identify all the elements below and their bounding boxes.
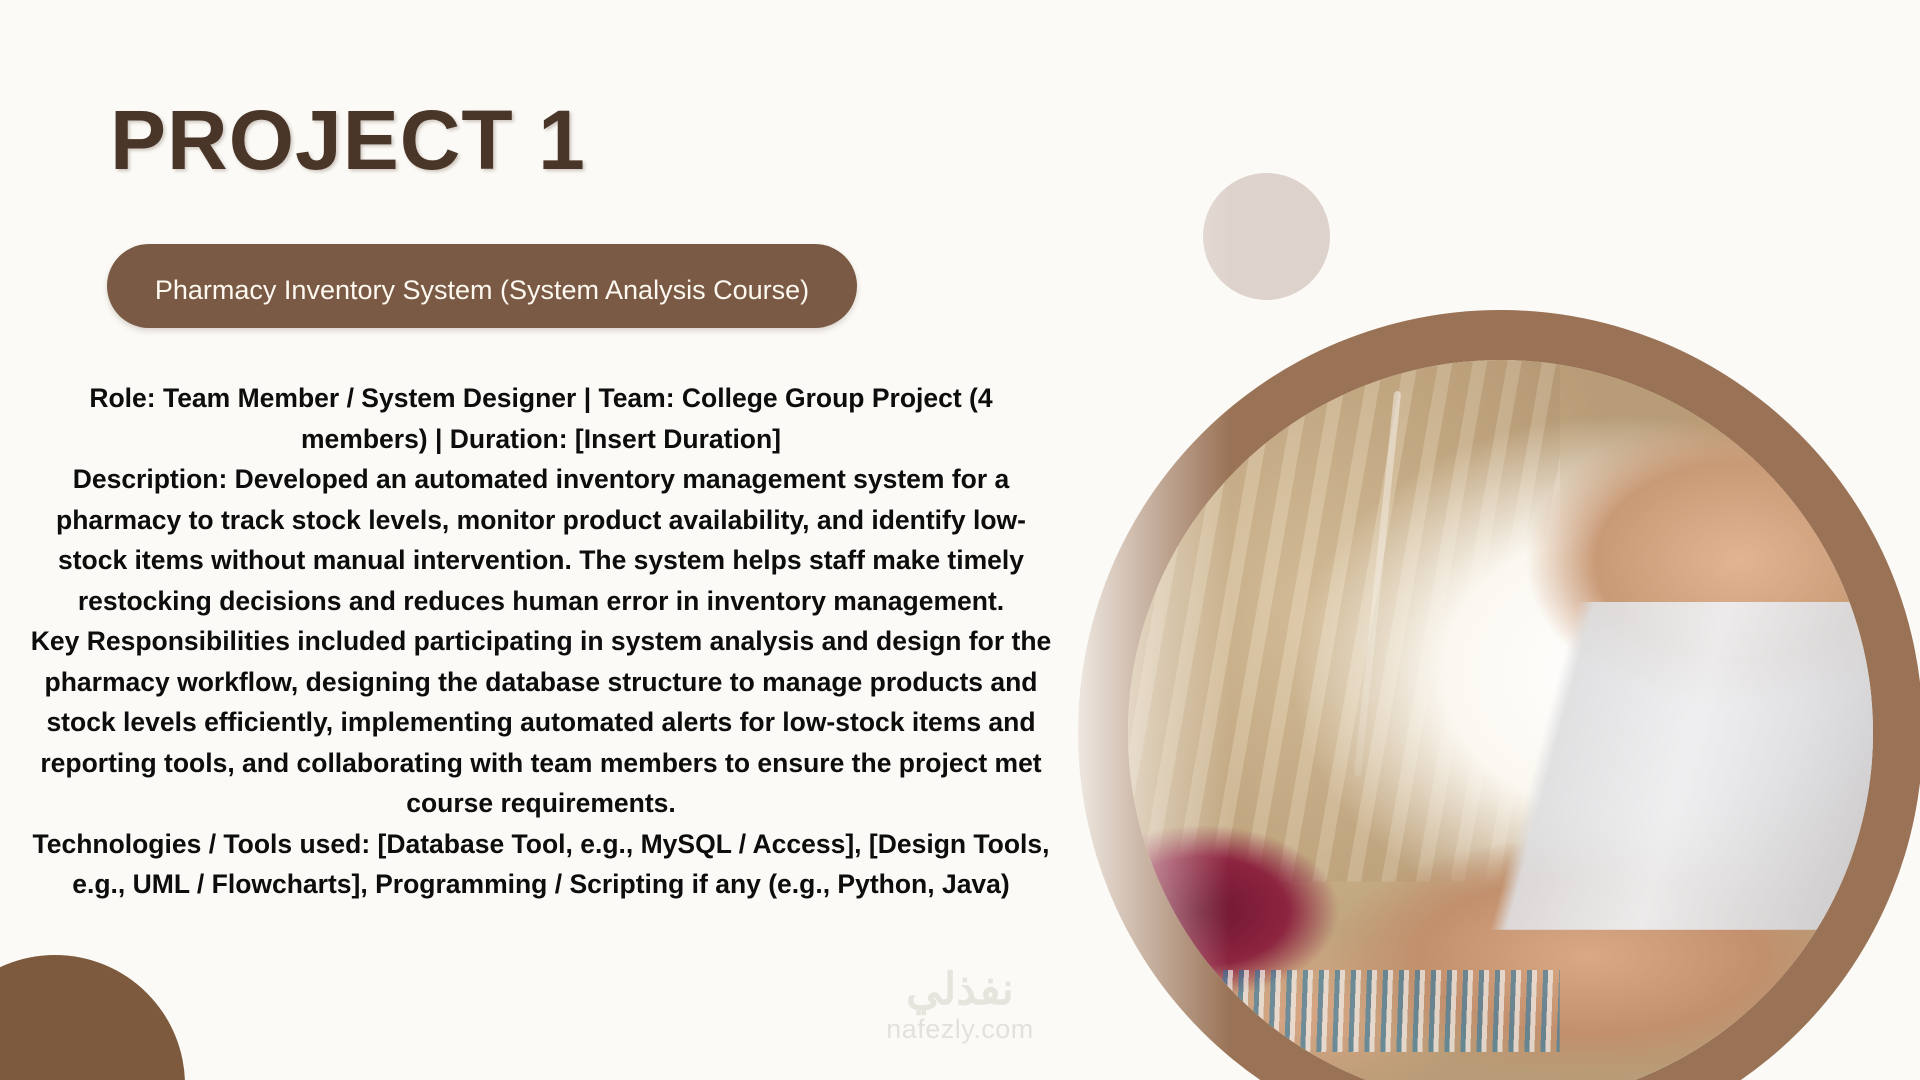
photo-ring-frame — [1078, 310, 1920, 1080]
slide-canvas: PROJECT 1 Pharmacy Inventory System (Sys… — [0, 0, 1920, 1080]
body-paragraph-responsibilities: Key Responsibilities included participat… — [26, 621, 1056, 824]
body-copy: Role: Team Member / System Designer | Te… — [26, 378, 1056, 905]
body-paragraph-role: Role: Team Member / System Designer | Te… — [26, 378, 1056, 459]
workspace-photo — [1128, 360, 1873, 1080]
decorative-circle-brown — [0, 955, 185, 1080]
watermark: نفذلي nafezly.com — [845, 968, 1075, 1043]
subtitle-pill: Pharmacy Inventory System (System Analys… — [107, 244, 857, 328]
watermark-domain: nafezly.com — [845, 1016, 1075, 1043]
decorative-circle-taupe — [1203, 173, 1330, 300]
body-paragraph-technologies: Technologies / Tools used: [Database Too… — [26, 824, 1056, 905]
subtitle-pill-label: Pharmacy Inventory System (System Analys… — [155, 274, 809, 307]
watermark-arabic-logo: نفذلي — [845, 968, 1075, 1012]
page-title: PROJECT 1 — [110, 96, 586, 184]
body-paragraph-description: Description: Developed an automated inve… — [26, 459, 1056, 621]
photo-circle-mask — [1128, 360, 1873, 1080]
